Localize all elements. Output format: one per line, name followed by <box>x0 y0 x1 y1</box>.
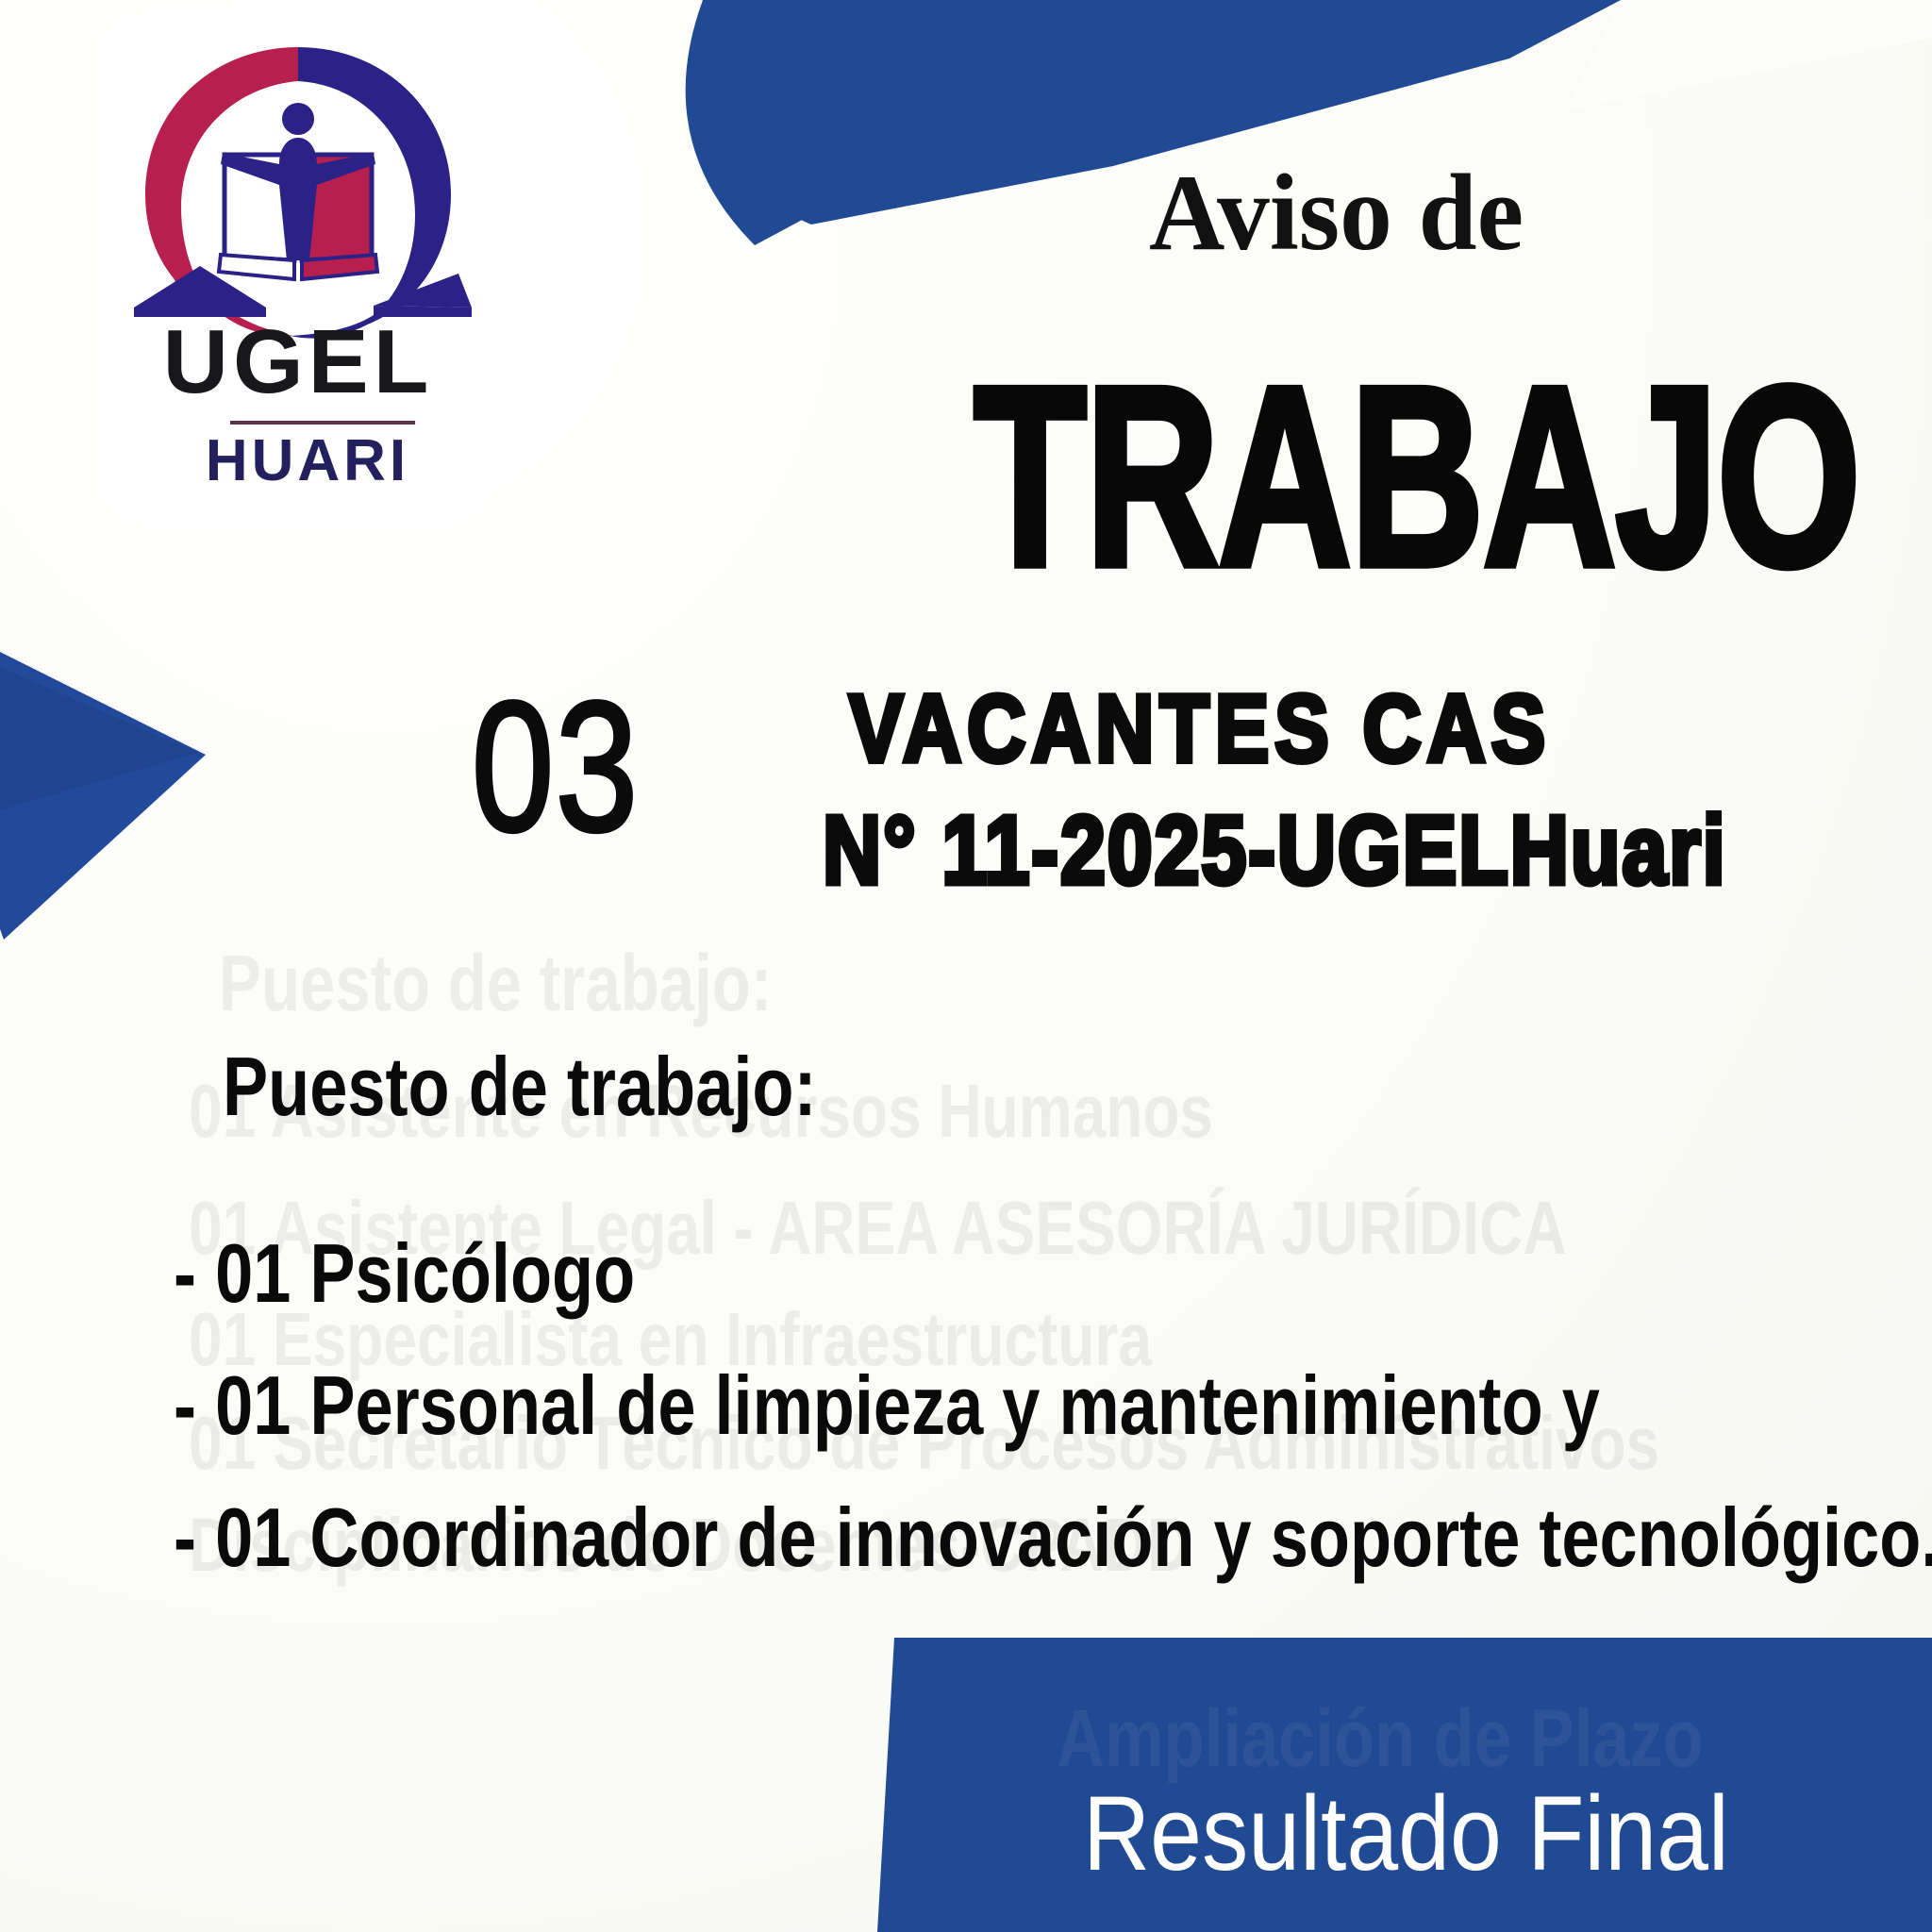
list-item: - 01 Personal de limpieza y mantenimient… <box>174 1364 1529 1447</box>
logo-secondary-text: HUARI <box>91 432 525 491</box>
banner-ghost-text: Ampliación de Plazo <box>1057 1698 1704 1779</box>
logo-divider-rule <box>230 421 415 425</box>
vacancy-label: VACANTES CAS <box>849 681 1551 776</box>
job-announcement-poster: UGEL HUARI Aviso de TRABAJO 03 VACANTES … <box>0 0 1932 1932</box>
list-item: - 01 Psicólogo <box>174 1232 1529 1315</box>
job-position-list: - 01 Psicólogo - 01 Personal de limpieza… <box>223 1232 1826 1579</box>
logo-primary-text: UGEL <box>91 317 506 408</box>
headline-eyebrow: Aviso de <box>1149 158 1524 268</box>
list-item: - 01 Coordinador de innovación y soporte… <box>174 1496 1529 1579</box>
job-position-heading: Puesto de trabajo: <box>223 1045 1538 1128</box>
headline-title: TRABAJO <box>974 349 1859 606</box>
vacancy-count: 03 <box>472 675 640 859</box>
job-details-block: Puesto de trabajo: - 01 Psicólogo - 01 P… <box>223 1045 1826 1628</box>
vacancy-reference-number: N° 11-2025-UGELHuari <box>823 802 1727 899</box>
ugel-huari-logo: UGEL HUARI <box>91 13 506 523</box>
banner-status-label: Resultado Final <box>1083 1781 1729 1887</box>
ghost-heading: Puesto de trabajo: <box>219 943 772 1023</box>
